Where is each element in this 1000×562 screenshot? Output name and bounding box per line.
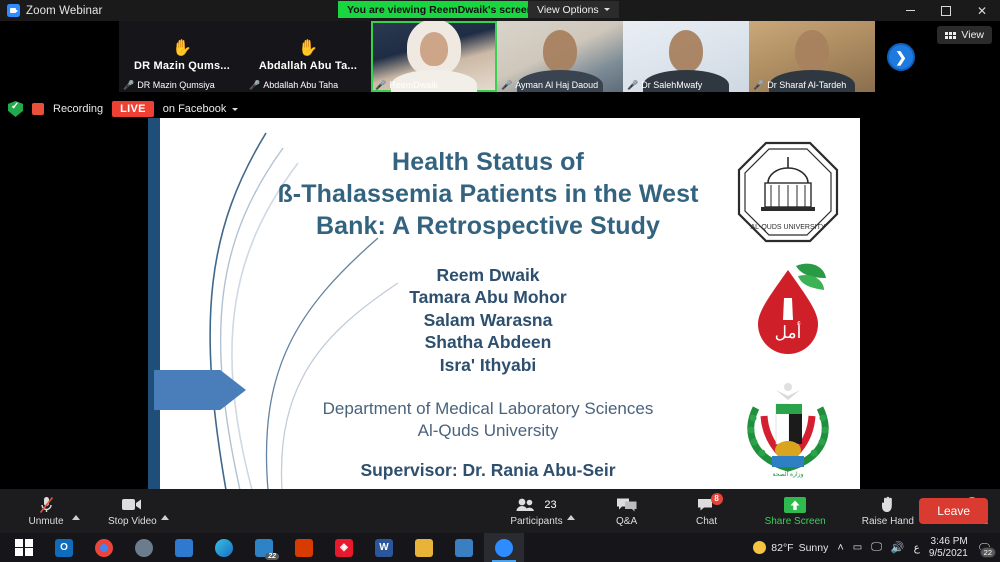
weather-temperature: 82°F xyxy=(771,542,793,554)
author-name: Isra' Ithyabi xyxy=(208,354,768,376)
raised-hand-icon: ✋ xyxy=(298,41,318,57)
moh-logo-caption: وزارة الصحة xyxy=(773,471,804,478)
participant-name-label: DR Mazin Qumsiya xyxy=(137,80,215,90)
author-name: Tamara Abu Mohor xyxy=(208,286,768,308)
slide-supervisor: Supervisor: Dr. Rania Abu-Seir xyxy=(208,460,768,481)
mic-muted-icon: 🎤 xyxy=(627,81,638,90)
shared-screen-content: Health Status of ß-Thalassemia Patients … xyxy=(148,118,860,490)
al-quds-university-logo: AL-QUDS UNIVERSITY xyxy=(732,136,844,248)
mail-icon[interactable]: 22 xyxy=(244,533,284,562)
amal-thalassemia-society-logo: أمل xyxy=(732,254,844,366)
stop-video-label: Stop Video xyxy=(108,516,157,527)
screen-share-banner: You are viewing ReemDwaik's screen xyxy=(338,1,542,18)
participant-name-overlay: 🎤 Ayman Al Haj Daoud xyxy=(497,79,602,92)
slide-text-content: Health Status of ß-Thalassemia Patients … xyxy=(208,118,768,490)
zoom-icon[interactable] xyxy=(484,533,524,562)
participant-thumbnail-abdallah-abu-taha[interactable]: ✋ Abdallah Abu Ta... 🎤 Abdallah Abu Taha xyxy=(245,21,371,92)
chevron-down-icon xyxy=(604,8,610,11)
participant-thumbnail-strip: ✋ DR Mazin Qums... 🎤 DR Mazin Qumsiya ✋ … xyxy=(119,21,875,92)
chat-label: Chat xyxy=(696,516,717,527)
mic-on-icon: 🎤 xyxy=(375,81,386,90)
participant-face xyxy=(669,30,703,72)
participant-thumbnail-dr-salehmwafy[interactable]: 🎤 Dr SalehMwafy xyxy=(623,21,749,92)
mic-muted-icon xyxy=(39,496,54,514)
raise-hand-icon xyxy=(881,496,895,514)
next-participants-page-button[interactable]: ❯ xyxy=(887,43,915,71)
participant-display-name: Abdallah Abu Ta... xyxy=(259,60,357,72)
live-target-dropdown[interactable]: on Facebook xyxy=(163,103,239,115)
speaker-icon[interactable]: 🔊 xyxy=(891,541,905,554)
author-name: Shatha Abdeen xyxy=(208,331,768,353)
app-identity: Zoom Webinar xyxy=(0,4,102,17)
view-button-label: View xyxy=(961,29,984,41)
green-shield-check-icon[interactable] xyxy=(8,101,23,117)
paint-3d-icon[interactable] xyxy=(124,533,164,562)
view-options-dropdown[interactable]: View Options xyxy=(528,1,619,18)
author-name: Reem Dwaik xyxy=(208,264,768,286)
action-center-badge: 22 xyxy=(980,547,996,558)
participant-display-name: DR Mazin Qums... xyxy=(134,60,230,72)
microsoft-word-icon[interactable]: W xyxy=(364,533,404,562)
restore-icon[interactable] xyxy=(928,0,964,21)
participant-name-overlay: 🎤 Dr SalehMwafy xyxy=(623,79,706,92)
qa-button[interactable]: Q&A xyxy=(599,496,655,527)
clock-time: 3:46 PM xyxy=(929,536,968,548)
department-line-1: Department of Medical Laboratory Science… xyxy=(208,398,768,420)
qa-label: Q&A xyxy=(616,516,637,527)
weather-condition: Sunny xyxy=(799,542,829,554)
participant-thumbnail-reemdwaik[interactable]: 🎤 ReemDwaik xyxy=(371,21,497,92)
participant-face xyxy=(420,32,448,66)
participant-name-overlay: 🎤 DR Mazin Qumsiya xyxy=(119,79,219,92)
share-screen-label: Share Screen xyxy=(765,516,826,527)
taskbar-icon-list: O 22 ◈ W xyxy=(0,533,524,562)
participants-button[interactable]: 23 Participants xyxy=(504,496,568,527)
microsoft-edge-icon[interactable] xyxy=(204,533,244,562)
participant-name-overlay: 🎤 Abdallah Abu Taha xyxy=(245,79,342,92)
amal-logo-caption: أمل xyxy=(775,321,802,342)
raise-hand-label: Raise Hand xyxy=(862,516,914,527)
qa-bubbles-icon xyxy=(617,496,637,514)
zoom-meeting-toolbar: Unmute Stop Video 23 Participants xyxy=(0,489,1000,533)
close-icon[interactable]: ✕ xyxy=(964,0,1000,21)
clock[interactable]: 3:46 PM 9/5/2021 xyxy=(929,536,968,559)
participant-name-label: Ayman Al Haj Daoud xyxy=(515,80,598,90)
view-options-label: View Options xyxy=(537,4,599,16)
live-target-label: on Facebook xyxy=(163,103,227,115)
photos-icon[interactable] xyxy=(444,533,484,562)
chat-bubble-icon: 8 xyxy=(698,496,716,514)
participant-thumbnail-ayman-al-haj-daoud[interactable]: 🎤 Ayman Al Haj Daoud xyxy=(497,21,623,92)
sun-icon xyxy=(753,541,766,554)
language-indicator[interactable]: ع xyxy=(914,542,920,554)
view-layout-button[interactable]: View xyxy=(937,26,992,44)
slide-title-line-1: Health Status of xyxy=(208,146,768,178)
media-player-icon[interactable]: ◈ xyxy=(324,533,364,562)
live-badge: LIVE xyxy=(112,101,154,117)
participant-name-overlay: 🎤 Dr Sharaf Al-Tardeh xyxy=(749,79,850,92)
file-explorer-icon[interactable] xyxy=(404,533,444,562)
weather-widget[interactable]: 82°F Sunny xyxy=(753,541,828,554)
participants-count: 23 xyxy=(544,499,556,511)
chevron-down-icon xyxy=(232,108,238,111)
zoom-logo-icon xyxy=(7,4,20,17)
slide-author-list: Reem Dwaik Tamara Abu Mohor Salam Warasn… xyxy=(208,264,768,376)
minimize-icon[interactable] xyxy=(892,0,928,21)
google-chrome-icon[interactable] xyxy=(84,533,124,562)
mic-muted-icon: 🎤 xyxy=(123,81,134,90)
window-title: Zoom Webinar xyxy=(26,5,102,17)
mic-muted-icon: 🎤 xyxy=(501,81,512,90)
action-center-icon[interactable]: 🗨 22 xyxy=(977,541,992,555)
al-quds-logo-caption: AL-QUDS UNIVERSITY xyxy=(750,224,825,231)
window-controls: ✕ xyxy=(892,0,1000,21)
participant-name-overlay: 🎤 ReemDwaik xyxy=(371,79,442,92)
participant-face xyxy=(543,30,577,72)
participant-thumbnail-dr-sharaf-al-tardeh[interactable]: 🎤 Dr Sharaf Al-Tardeh xyxy=(749,21,875,92)
slide-title-line-2: ß-Thalassemia Patients in the West xyxy=(208,178,768,210)
share-screen-button[interactable]: Share Screen xyxy=(759,496,832,527)
office-icon[interactable] xyxy=(284,533,324,562)
slide-logo-column: AL-QUDS UNIVERSITY أمل xyxy=(732,136,852,490)
participant-name-label: Dr Sharaf Al-Tardeh xyxy=(767,80,846,90)
network-monitor-icon[interactable]: 🖵 xyxy=(871,541,882,554)
mic-on-icon: 🎤 xyxy=(753,81,764,90)
mail-badge: 22 xyxy=(265,553,279,560)
video-camera-icon xyxy=(122,496,142,514)
participants-label: Participants xyxy=(510,516,562,527)
stop-video-button[interactable]: Stop Video xyxy=(102,496,163,527)
participants-icon: 23 xyxy=(516,496,556,514)
participant-name-label: ReemDwaik xyxy=(389,80,438,90)
raise-hand-button[interactable]: Raise Hand xyxy=(856,496,920,527)
department-line-2: Al-Quds University xyxy=(208,420,768,442)
window-title-bar: Zoom Webinar You are viewing ReemDwaik's… xyxy=(0,0,1000,21)
clock-date: 9/5/2021 xyxy=(929,548,968,560)
raised-hand-icon: ✋ xyxy=(172,41,192,57)
palestinian-ministry-of-health-logo: وزارة الصحة xyxy=(732,372,844,484)
participant-thumbnail-dr-mazin-qumsiya[interactable]: ✋ DR Mazin Qums... 🎤 DR Mazin Qumsiya xyxy=(119,21,245,92)
leave-button[interactable]: Leave xyxy=(919,498,988,524)
slide-title-line-3: Bank: A Retrospective Study xyxy=(208,210,768,242)
slide-title: Health Status of ß-Thalassemia Patients … xyxy=(208,146,768,242)
recording-label: Recording xyxy=(53,103,103,115)
outlook-icon[interactable]: O xyxy=(44,533,84,562)
unmute-button[interactable]: Unmute xyxy=(18,496,74,527)
unmute-label: Unmute xyxy=(28,516,63,527)
participant-name-label: Dr SalehMwafy xyxy=(641,80,702,90)
chat-unread-badge: 8 xyxy=(711,493,723,505)
chat-button[interactable]: 8 Chat xyxy=(679,496,735,527)
participant-name-label: Abdallah Abu Taha xyxy=(263,80,338,90)
battery-icon[interactable]: ▭ xyxy=(853,542,862,553)
calendar-icon[interactable] xyxy=(164,533,204,562)
mic-muted-icon: 🎤 xyxy=(249,81,260,90)
system-tray: 82°F Sunny ˄ ▭ 🖵 🔊 ع 3:46 PM 9/5/2021 🗨 … xyxy=(753,536,1000,559)
slide-department: Department of Medical Laboratory Science… xyxy=(208,398,768,442)
author-name: Salam Warasna xyxy=(208,309,768,331)
recording-stop-icon[interactable] xyxy=(32,103,44,115)
show-hidden-icons-chevron[interactable]: ˄ xyxy=(837,542,843,554)
start-button-icon[interactable] xyxy=(4,533,44,562)
participant-face xyxy=(795,30,829,72)
windows-taskbar: O 22 ◈ W 82°F Sunny ˄ ▭ xyxy=(0,533,1000,562)
grid-view-icon xyxy=(945,32,956,39)
share-screen-up-arrow-icon xyxy=(784,496,806,514)
